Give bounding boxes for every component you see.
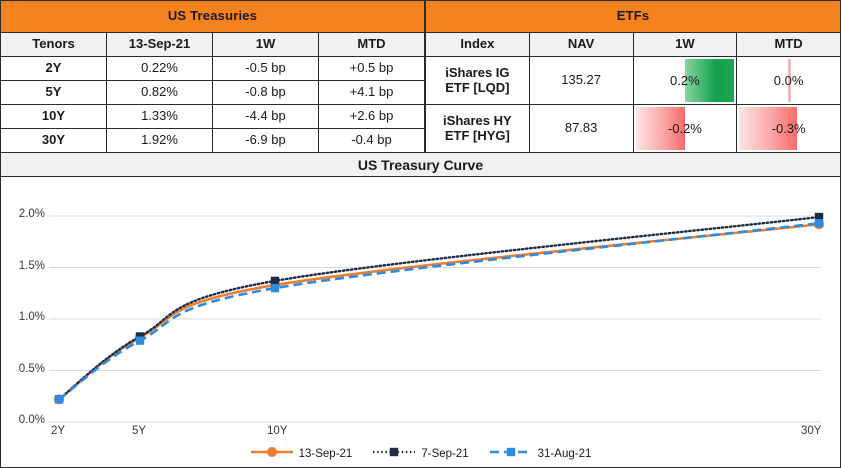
x-tick-label: 10Y [267, 425, 287, 437]
data-point-marker [55, 395, 63, 403]
treasuries-level-30y: 1.92% [107, 129, 213, 153]
etfs-table-wrapper: ETFs Index NAV 1W MTD iShares IG ETF [LQ… [425, 0, 841, 152]
etf-1w-lqd-cell: 0.2% [633, 57, 737, 105]
treasuries-mtd-2y: +0.5 bp [319, 57, 425, 81]
chart-title: US Treasury Curve [1, 153, 840, 177]
legend-item[interactable]: 13-Sep-21 [250, 445, 353, 462]
etf-nav-lqd: 135.27 [529, 57, 633, 105]
treasuries-title: US Treasuries [1, 1, 425, 33]
etfs-col-index: Index [426, 33, 530, 57]
treasuries-tenor-2y: 2Y [1, 57, 107, 81]
treasuries-level-2y: 0.22% [107, 57, 213, 81]
etf-1w-hyg-cell: -0.2% [633, 105, 737, 153]
us-treasury-curve-chart: US Treasury Curve 0.0%0.5%1.0%1.5%2.0% 2… [0, 152, 841, 468]
x-tick-label: 2Y [51, 425, 65, 437]
table-row: iShares IG ETF [LQD] 135.27 0.2% 0.0% [426, 57, 841, 105]
treasuries-tenor-5y: 5Y [1, 81, 107, 105]
legend-swatch-icon [372, 445, 416, 462]
etf-1w-hyg: -0.2% [640, 106, 731, 152]
legend-label: 13-Sep-21 [299, 448, 353, 460]
series-line-7-Sep-21 [59, 217, 819, 399]
treasuries-tenor-10y: 10Y [1, 105, 107, 129]
legend-item[interactable]: 7-Sep-21 [372, 445, 468, 462]
etf-mtd-lqd: 0.0% [743, 58, 834, 104]
legend-swatch-icon [250, 445, 294, 462]
etfs-table: ETFs Index NAV 1W MTD iShares IG ETF [LQ… [425, 0, 841, 153]
etfs-header-row: Index NAV 1W MTD [426, 33, 841, 57]
legend-item[interactable]: 31-Aug-21 [489, 445, 592, 462]
y-tick-label: 0.5% [1, 363, 45, 375]
treasuries-level-10y: 1.33% [107, 105, 213, 129]
treasuries-1w-10y: -4.4 bp [213, 105, 319, 129]
treasuries-col-1w: 1W [213, 33, 319, 57]
treasuries-header-row: Tenors 13-Sep-21 1W MTD [1, 33, 425, 57]
treasuries-mtd-5y: +4.1 bp [319, 81, 425, 105]
us-treasuries-table: US Treasuries Tenors 13-Sep-21 1W MTD 2Y… [0, 0, 425, 153]
report-page: US Treasuries Tenors 13-Sep-21 1W MTD 2Y… [0, 0, 841, 468]
treasuries-tenor-30y: 30Y [1, 129, 107, 153]
etf-name-hyg: iShares HY ETF [HYG] [426, 105, 530, 153]
table-row: iShares HY ETF [HYG] 87.83 -0.2% -0.3% [426, 105, 841, 153]
etfs-col-1w: 1W [633, 33, 737, 57]
etf-mtd-hyg: -0.3% [743, 106, 834, 152]
table-row: 5Y 0.82% -0.8 bp +4.1 bp [1, 81, 425, 105]
us-treasuries-table-wrapper: US Treasuries Tenors 13-Sep-21 1W MTD 2Y… [0, 0, 425, 152]
etf-1w-lqd: 0.2% [640, 58, 731, 104]
treasuries-title-row: US Treasuries [1, 1, 425, 33]
chart-plot-area: 0.0%0.5%1.0%1.5%2.0% 2Y5Y10Y30Y 13-Sep-2… [1, 177, 840, 467]
treasuries-1w-2y: -0.5 bp [213, 57, 319, 81]
etf-name-lqd: iShares IG ETF [LQD] [426, 57, 530, 105]
chart-series-layer [54, 213, 824, 405]
etfs-title: ETFs [426, 1, 841, 33]
data-point-marker [271, 284, 279, 292]
etf-nav-hyg: 87.83 [529, 105, 633, 153]
etfs-title-row: ETFs [426, 1, 841, 33]
treasuries-level-5y: 0.82% [107, 81, 213, 105]
table-row: 10Y 1.33% -4.4 bp +2.6 bp [1, 105, 425, 129]
treasuries-mtd-30y: -0.4 bp [319, 129, 425, 153]
legend-label: 31-Aug-21 [538, 448, 592, 460]
treasuries-col-level: 13-Sep-21 [107, 33, 213, 57]
data-point-marker [815, 219, 823, 227]
legend-swatch-icon [489, 445, 533, 462]
summary-tables: US Treasuries Tenors 13-Sep-21 1W MTD 2Y… [0, 0, 841, 152]
treasuries-1w-5y: -0.8 bp [213, 81, 319, 105]
treasuries-1w-30y: -6.9 bp [213, 129, 319, 153]
etfs-col-nav: NAV [529, 33, 633, 57]
y-tick-label: 1.5% [1, 260, 45, 272]
x-tick-label: 30Y [801, 425, 821, 437]
data-point-marker [136, 336, 144, 344]
etf-mtd-lqd-cell: 0.0% [737, 57, 841, 105]
table-row: 2Y 0.22% -0.5 bp +0.5 bp [1, 57, 425, 81]
data-point-marker [271, 277, 279, 285]
etf-mtd-hyg-cell: -0.3% [737, 105, 841, 153]
y-tick-label: 2.0% [1, 208, 45, 220]
treasuries-mtd-10y: +2.6 bp [319, 105, 425, 129]
treasuries-col-tenors: Tenors [1, 33, 107, 57]
legend-label: 7-Sep-21 [421, 448, 468, 460]
table-row: 30Y 1.92% -6.9 bp -0.4 bp [1, 129, 425, 153]
etfs-col-mtd: MTD [737, 33, 841, 57]
curve-plot-svg [1, 177, 840, 467]
chart-legend: 13-Sep-217-Sep-2131-Aug-21 [1, 445, 840, 462]
y-tick-label: 1.0% [1, 311, 45, 323]
x-tick-label: 5Y [132, 425, 146, 437]
treasuries-col-mtd: MTD [319, 33, 425, 57]
y-tick-label: 0.0% [1, 414, 45, 426]
